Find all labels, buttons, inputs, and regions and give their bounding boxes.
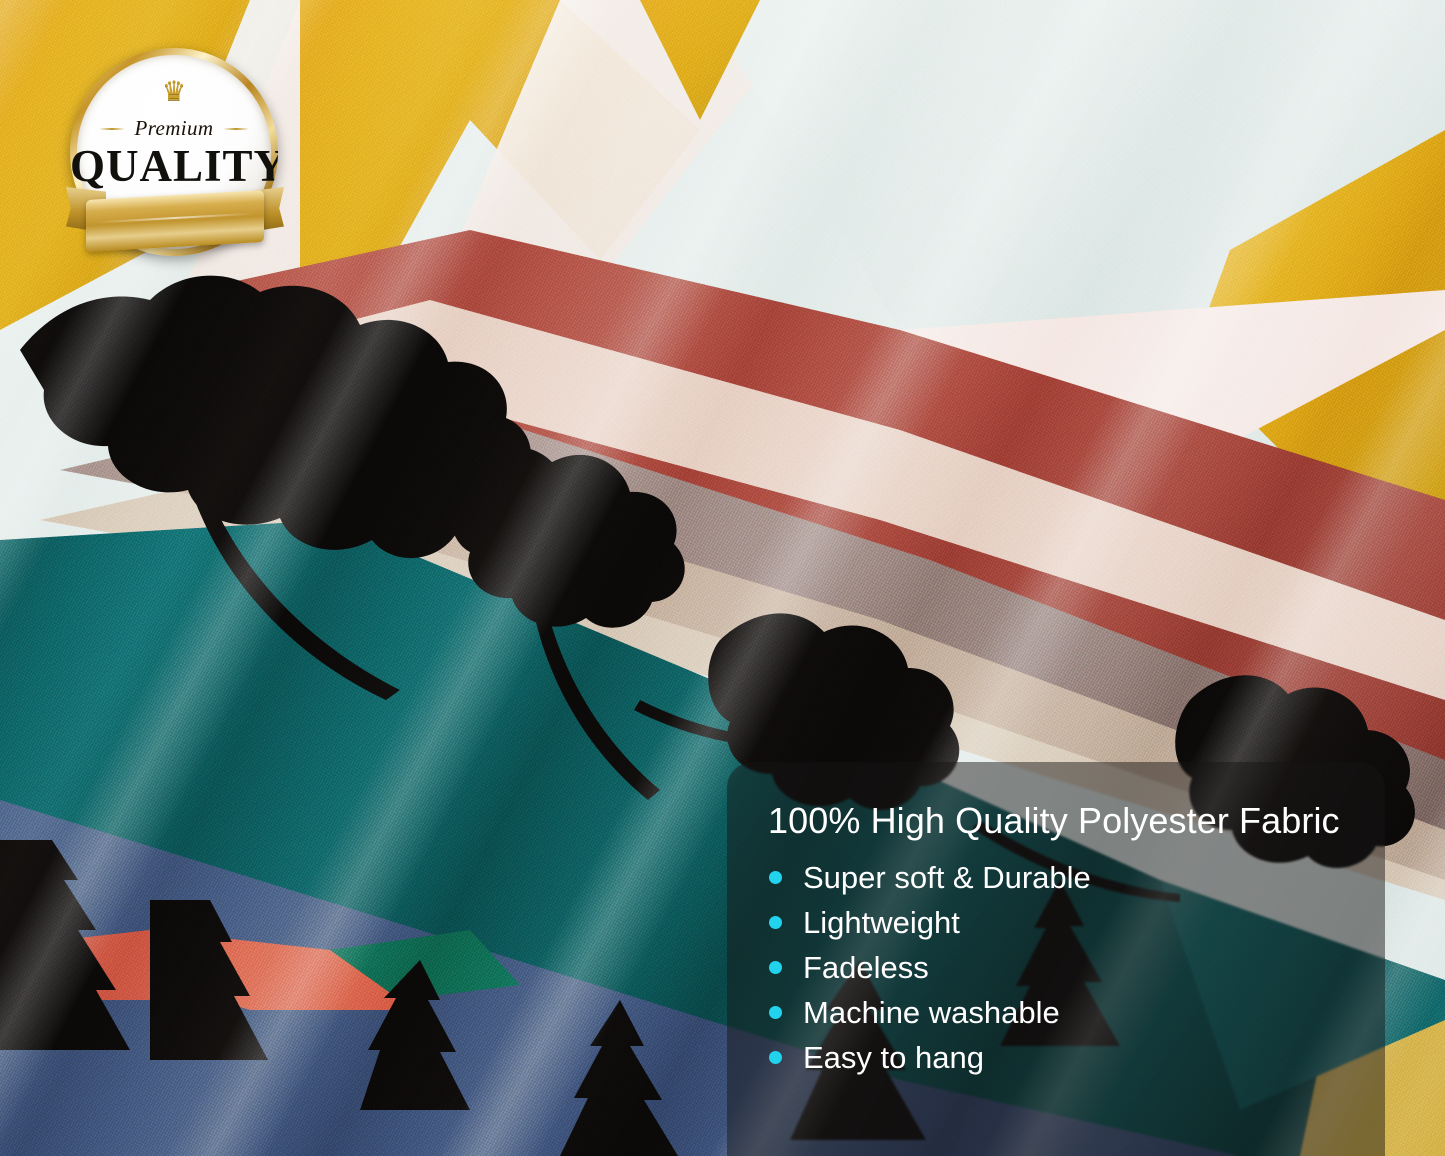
- badge-eyebrow: Premium: [134, 116, 213, 141]
- list-item: Super soft & Durable: [769, 855, 1091, 900]
- ribbon-band: [86, 190, 264, 252]
- premium-quality-badge: ♛ Premium QUALITY ✦: [64, 44, 286, 266]
- feature-label: Fadeless: [803, 950, 929, 986]
- feature-label: Lightweight: [803, 905, 960, 941]
- crown-icon: ♛: [70, 78, 278, 105]
- bullet-dot-icon: [769, 1006, 782, 1019]
- list-item: Easy to hang: [769, 1035, 1091, 1080]
- bullet-dot-icon: [769, 961, 782, 974]
- list-item: Machine washable: [769, 990, 1091, 1035]
- bullet-dot-icon: [769, 916, 782, 929]
- badge-ribbon: [64, 181, 286, 265]
- feature-panel-title: 100% High Quality Polyester Fabric: [768, 800, 1368, 842]
- list-item: Fadeless: [769, 945, 1091, 990]
- feature-bullet-list: Super soft & Durable Lightweight Fadeles…: [769, 855, 1091, 1080]
- product-image: ♛ Premium QUALITY ✦ 100% High Quality Po…: [0, 0, 1445, 1156]
- badge-eyebrow-row: Premium: [70, 116, 278, 141]
- feature-label: Super soft & Durable: [803, 860, 1091, 896]
- list-item: Lightweight: [769, 900, 1091, 945]
- feature-overlay-panel: 100% High Quality Polyester Fabric Super…: [727, 762, 1385, 1156]
- bullet-dot-icon: [769, 1051, 782, 1064]
- feature-label: Machine washable: [803, 995, 1060, 1031]
- badge-dash-left: [99, 128, 125, 130]
- bullet-dot-icon: [769, 871, 782, 884]
- badge-dash-right: [223, 128, 249, 130]
- feature-label: Easy to hang: [803, 1040, 984, 1076]
